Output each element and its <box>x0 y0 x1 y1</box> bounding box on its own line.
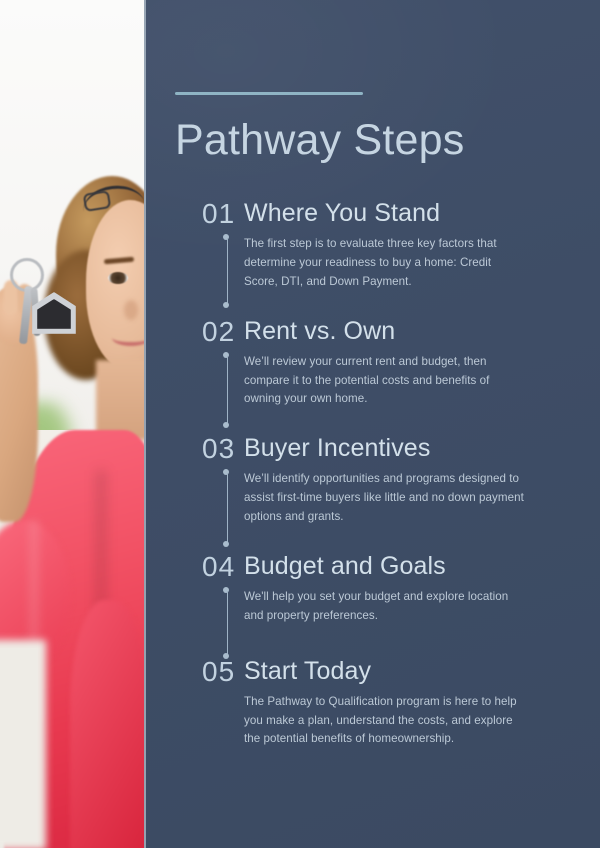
hero-photo <box>0 0 144 848</box>
timeline-connector <box>223 234 232 308</box>
photo-background-gap <box>0 640 46 848</box>
step-header: Start Today <box>244 658 564 684</box>
step-number: 02 <box>202 318 235 346</box>
photo-eye <box>108 272 128 284</box>
steps-list: 01 Where You Stand The first step is to … <box>175 200 564 749</box>
photo-nose <box>124 300 138 320</box>
step-title: Budget and Goals <box>244 553 446 579</box>
step-header: Buyer Incentives <box>244 435 564 461</box>
accent-rule <box>175 92 363 95</box>
step-item-03: 03 Buyer Incentives We’ll identify oppor… <box>175 435 564 527</box>
step-item-05: 05 Start Today The Pathway to Qualificat… <box>175 658 564 750</box>
content-panel: Pathway Steps 01 Where You Stand The fir… <box>144 0 600 848</box>
timeline-dot <box>223 422 229 428</box>
step-title: Buyer Incentives <box>244 435 430 461</box>
step-description: The first step is to evaluate three key … <box>244 235 526 291</box>
timeline-line <box>227 356 228 424</box>
timeline-connector <box>223 352 232 428</box>
step-number: 01 <box>202 200 235 228</box>
step-item-04: 04 Budget and Goals We'll help you set y… <box>175 553 564 626</box>
step-description: We'll help you set your budget and explo… <box>244 588 526 626</box>
photo-arm-right <box>70 600 144 848</box>
page-title: Pathway Steps <box>175 119 564 162</box>
step-title: Rent vs. Own <box>244 318 395 344</box>
step-description: The Pathway to Qualification program is … <box>244 693 526 749</box>
photo-neck <box>96 360 144 440</box>
step-header: Rent vs. Own <box>244 318 564 344</box>
timeline-dot <box>223 234 229 240</box>
timeline-line <box>227 591 228 655</box>
timeline-dot <box>223 352 229 358</box>
step-number: 03 <box>202 435 235 463</box>
photo-panel-divider <box>144 0 146 848</box>
step-number: 04 <box>202 553 235 581</box>
timeline-connector <box>223 587 232 659</box>
poster-page: Pathway Steps 01 Where You Stand The fir… <box>0 0 600 848</box>
step-header: Where You Stand <box>244 200 564 226</box>
photo-smile <box>112 330 144 346</box>
step-header: Budget and Goals <box>244 553 564 579</box>
timeline-line <box>227 238 228 304</box>
step-number: 05 <box>202 658 235 686</box>
timeline-line <box>227 473 228 543</box>
step-description: We’ll identify opportunities and program… <box>244 470 526 526</box>
step-title: Start Today <box>244 658 371 684</box>
timeline-dot <box>223 587 229 593</box>
timeline-connector <box>223 469 232 547</box>
step-title: Where You Stand <box>244 200 440 226</box>
timeline-dot <box>223 302 229 308</box>
step-description: We’ll review your current rent and budge… <box>244 353 526 409</box>
timeline-dot <box>223 469 229 475</box>
timeline-dot <box>223 541 229 547</box>
step-item-02: 02 Rent vs. Own We’ll review your curren… <box>175 318 564 410</box>
step-item-01: 01 Where You Stand The first step is to … <box>175 200 564 292</box>
